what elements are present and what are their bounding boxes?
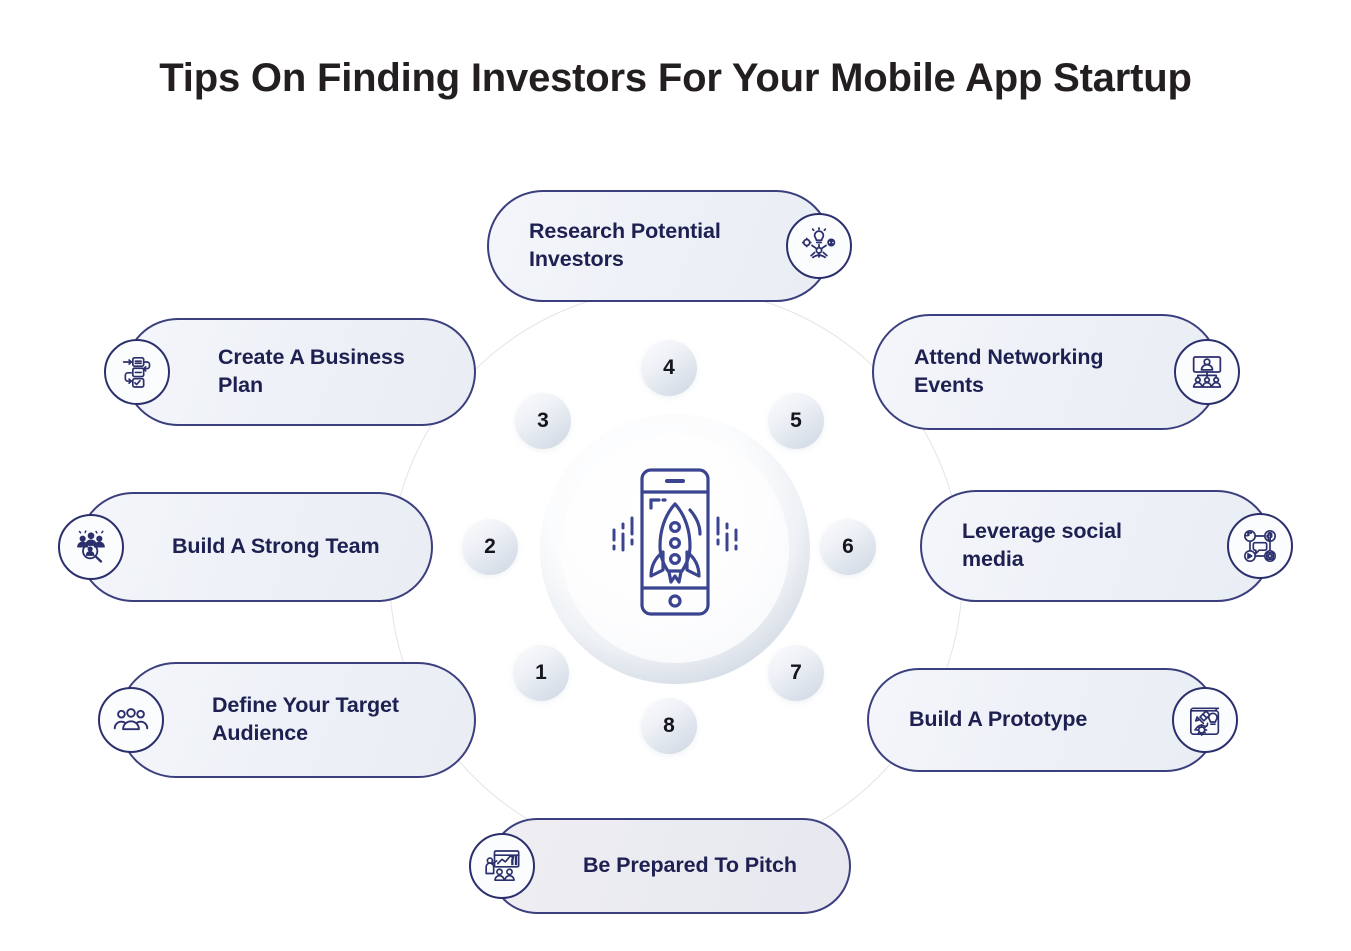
tip-card-leverage-social-media[interactable]: Leverage social media bbox=[920, 490, 1273, 602]
tip-label: Create A Business Plan bbox=[218, 344, 448, 399]
tip-label: Attend Networking Events bbox=[914, 344, 1126, 399]
tip-label: Research Potential Investors bbox=[529, 218, 738, 273]
business-plan-flowchart-icon bbox=[104, 339, 170, 405]
step-number-1: 1 bbox=[513, 645, 569, 701]
tip-label: Be Prepared To Pitch bbox=[583, 852, 797, 880]
step-number-6: 6 bbox=[820, 519, 876, 575]
step-number-8: 8 bbox=[641, 698, 697, 754]
target-audience-group-icon bbox=[98, 687, 164, 753]
page-title: Tips On Finding Investors For Your Mobil… bbox=[0, 56, 1351, 101]
tip-label: Build A Strong Team bbox=[172, 533, 380, 561]
tip-label: Leverage social media bbox=[962, 518, 1179, 573]
step-number-2: 2 bbox=[462, 519, 518, 575]
pitch-presentation-icon bbox=[469, 833, 535, 899]
step-number-7: 7 bbox=[768, 645, 824, 701]
prototype-blueprint-icon bbox=[1172, 687, 1238, 753]
mobile-app-rocket-launch-icon bbox=[585, 452, 765, 632]
research-investors-idea-icon bbox=[786, 213, 852, 279]
tip-card-be-prepared-to-pitch[interactable]: Be Prepared To Pitch bbox=[489, 818, 851, 914]
tip-card-create-a-business-plan[interactable]: Create A Business Plan bbox=[124, 318, 476, 426]
infographic-canvas: Tips On Finding Investors For Your Mobil… bbox=[0, 0, 1351, 951]
strong-team-search-icon bbox=[58, 514, 124, 580]
tip-card-build-a-strong-team[interactable]: Build A Strong Team bbox=[78, 492, 433, 602]
tip-card-research-potential-investors[interactable]: Research Potential Investors bbox=[487, 190, 832, 302]
step-number-4: 4 bbox=[641, 340, 697, 396]
tip-card-attend-networking-events[interactable]: Attend Networking Events bbox=[872, 314, 1220, 430]
tip-label: Define Your Target Audience bbox=[212, 692, 448, 747]
step-number-3: 3 bbox=[515, 393, 571, 449]
tip-card-define-your-target-audience[interactable]: Define Your Target Audience bbox=[118, 662, 476, 778]
step-number-5: 5 bbox=[768, 393, 824, 449]
social-media-network-icon bbox=[1227, 513, 1293, 579]
tip-label: Build A Prototype bbox=[909, 706, 1087, 734]
networking-events-icon bbox=[1174, 339, 1240, 405]
tip-card-build-a-prototype[interactable]: Build A Prototype bbox=[867, 668, 1218, 772]
